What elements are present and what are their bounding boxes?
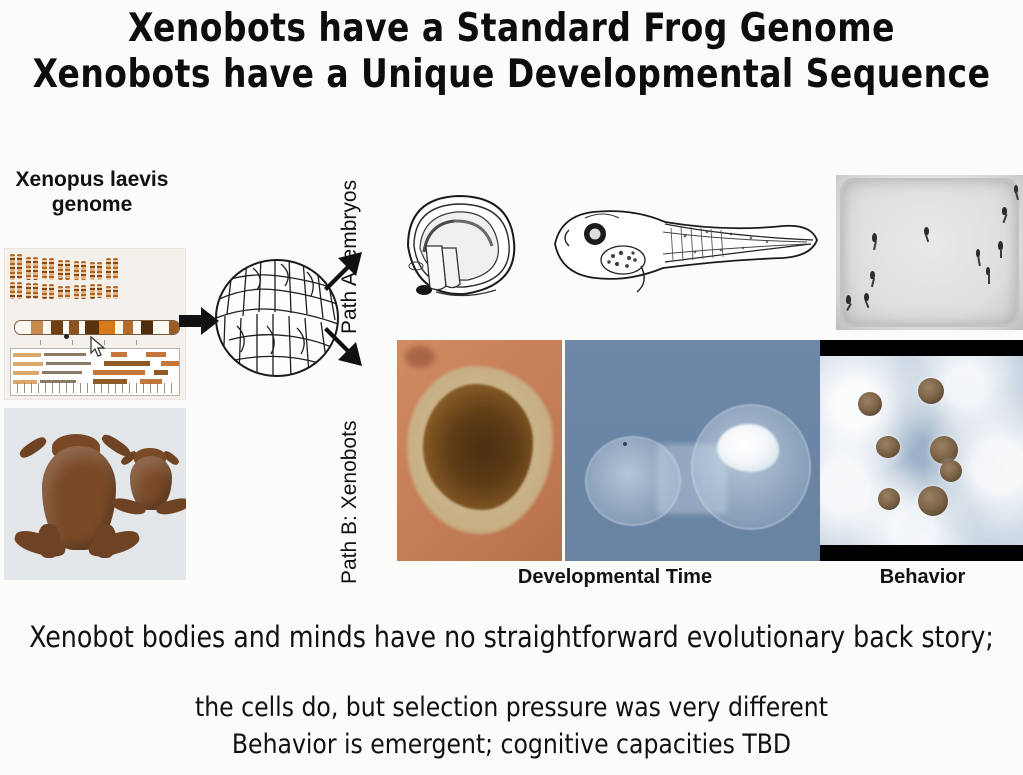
arrow-down-right-icon [322,324,364,370]
xenobot-behavior-photo [820,340,1023,561]
caption-developmental-time: Developmental Time [485,566,745,589]
chromosome-ideogram [14,320,180,335]
slide-canvas: Xenobots have a Standard Frog Genome Xen… [0,0,1023,775]
tadpole-drawing [545,196,820,301]
genome-label-species: Xenopus laevis [0,168,188,193]
slide-title: Xenobots have a Standard Frog Genome Xen… [0,6,1023,98]
blob-dark-spot [405,346,435,368]
chromosome-row [8,254,184,280]
xenobot-tissue-blob-photo [397,340,562,561]
xenobot-dark-fleck [623,442,627,446]
xenobot-white-inclusion [717,424,779,472]
bottom-text-line-1: Xenobot bodies and minds have no straigh… [15,620,1007,654]
blob-dark-core [423,384,533,510]
frog-small [116,446,186,528]
genome-label-word: genome [0,193,188,218]
title-line-2: Xenobots have a Unique Developmental Seq… [31,52,993,98]
xenobot-organism-photo [565,340,820,561]
bottom-text-line-3: Behavior is emergent; cognitive capaciti… [15,729,1007,760]
frog-embryo-drawing [392,186,522,304]
caption-behavior: Behavior [845,566,1000,589]
genome-label: Xenopus laevis genome [0,168,188,218]
mouse-pointer-icon [90,336,106,358]
arrow-right-icon [179,305,219,337]
chromosome-row [8,282,184,299]
coverage-track [14,383,176,393]
arrow-up-right-icon [322,248,364,294]
centromere-marker [64,334,69,339]
title-line-1: Xenobots have a Standard Frog Genome [31,6,993,52]
karyotype-figure [4,248,186,400]
karyotype-chromosome-rows [8,254,184,301]
path-b-label: Path B: Xenobots [338,421,362,584]
tadpole-behavior-dish-photo [836,175,1023,330]
bottom-text-line-2: the cells do, but selection pressure was… [15,692,1007,723]
xenopus-frog-photo [4,408,186,580]
